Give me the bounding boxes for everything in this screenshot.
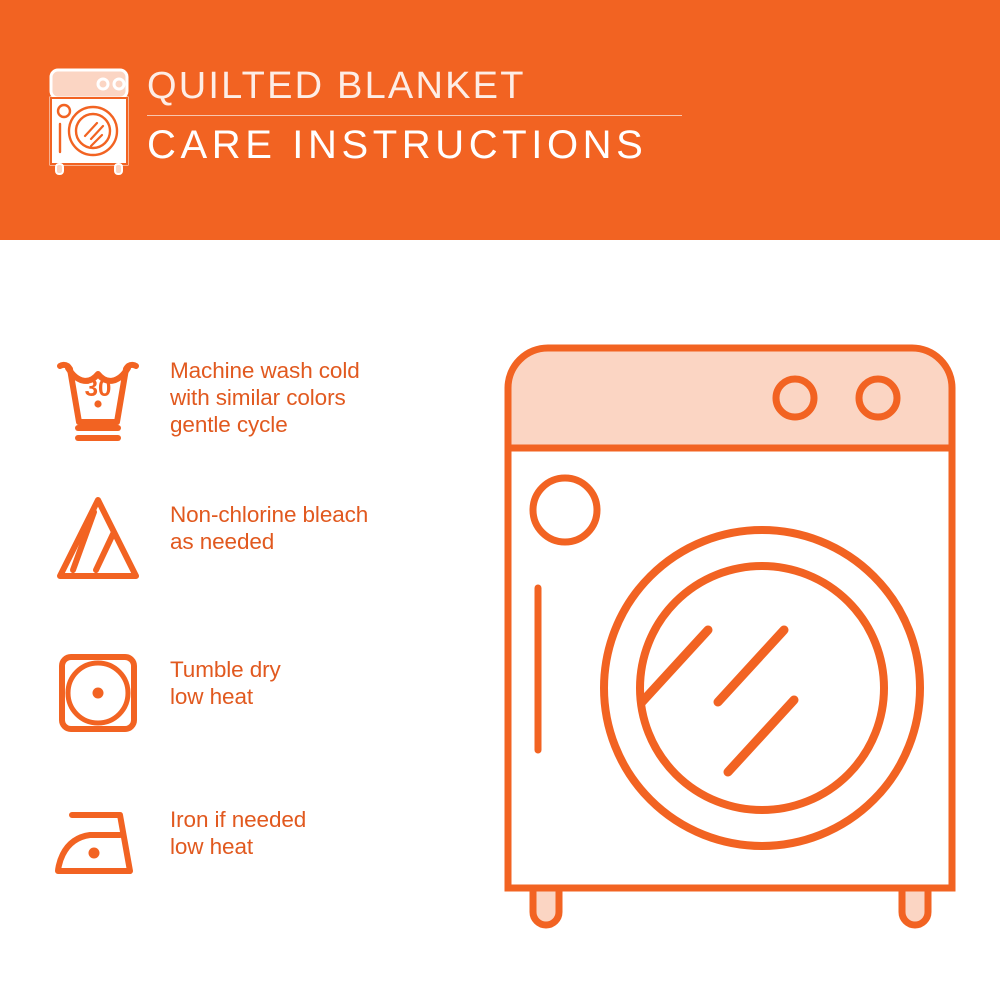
care-text-line: with similar colors	[170, 384, 360, 411]
care-text-line: Iron if needed	[170, 806, 306, 833]
care-instruction-text: Machine wash cold with similar colors ge…	[170, 344, 360, 438]
care-text-line: low heat	[170, 683, 281, 710]
non-chlorine-bleach-icon	[48, 488, 148, 588]
header-title-block: QUILTED BLANKET CARE INSTRUCTIONS	[147, 62, 682, 168]
care-text-line: gentle cycle	[170, 411, 360, 438]
care-text-line: as needed	[170, 528, 368, 555]
leg-left	[533, 888, 559, 925]
page-header: QUILTED BLANKET CARE INSTRUCTIONS	[0, 0, 1000, 240]
care-text-line: Non-chlorine bleach	[170, 501, 368, 528]
page-title-secondary: CARE INSTRUCTIONS	[147, 122, 682, 168]
washing-machine-icon	[45, 66, 133, 178]
control-panel	[508, 348, 952, 448]
care-instruction-item: Iron if needed low heat	[48, 793, 468, 893]
page-title-primary: QUILTED BLANKET	[147, 64, 682, 108]
care-instruction-item: 30 Machine wash cold with similar colors…	[48, 344, 468, 444]
care-instruction-text: Non-chlorine bleach as needed	[170, 488, 368, 555]
care-text-line: Tumble dry	[170, 656, 281, 683]
care-instructions-list: 30 Machine wash cold with similar colors…	[0, 240, 470, 1000]
wash-temperature-label: 30	[85, 375, 112, 402]
care-text-line: Machine wash cold	[170, 357, 360, 384]
title-divider	[147, 115, 682, 116]
care-instruction-item: Tumble dry low heat	[48, 643, 468, 743]
machine-wash-30-icon: 30	[48, 344, 148, 444]
care-instruction-text: Iron if needed low heat	[170, 793, 306, 860]
header-content: QUILTED BLANKET CARE INSTRUCTIONS	[45, 62, 682, 178]
care-text-line: low heat	[170, 833, 306, 860]
care-instruction-item: Non-chlorine bleach as needed	[48, 488, 468, 588]
care-instruction-text: Tumble dry low heat	[170, 643, 281, 710]
leg-right	[902, 888, 928, 925]
front-load-washing-machine-illustration	[490, 330, 970, 940]
tumble-dry-low-heat-icon	[48, 643, 148, 743]
iron-low-heat-icon	[48, 793, 148, 893]
